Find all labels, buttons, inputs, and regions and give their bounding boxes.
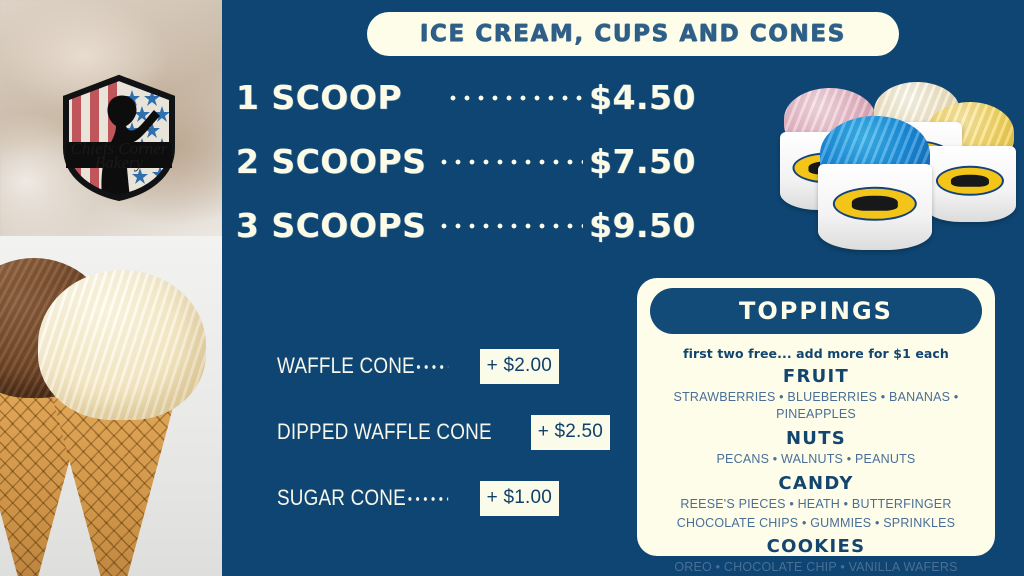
menu-title-banner: ICE CREAM, CUPS AND CONES xyxy=(367,12,899,56)
page-title: ICE CREAM, CUPS AND CONES xyxy=(420,21,846,47)
topping-items-candy-line1: REESE'S PIECES • HEATH • BUTTERFINGER xyxy=(649,496,983,513)
dot-leader xyxy=(437,158,584,166)
topping-items-candy-line2: CHOCOLATE CHIPS • GUMMIES • SPRINKLES xyxy=(649,515,983,532)
toppings-panel: TOPPINGS first two free... add more for … xyxy=(637,278,995,556)
cone-label-wrap: SUGAR CONE xyxy=(277,485,448,511)
blue-bell-logo-icon xyxy=(833,186,917,220)
toppings-header-bar: TOPPINGS xyxy=(650,288,982,334)
scoop-label: 2 SCOOPS xyxy=(236,142,427,181)
topping-category-fruit: FRUIT xyxy=(649,366,983,387)
cone-label: SUGAR CONE xyxy=(277,485,406,511)
ice-cream-cup xyxy=(924,146,1016,222)
waffle-cones-photo xyxy=(0,236,222,576)
topping-items-nuts: PECANS • WALNUTS • PEANUTS xyxy=(649,451,983,468)
vanilla-scoop xyxy=(38,270,206,420)
toppings-subtitle: first two free... add more for $1 each xyxy=(649,346,983,361)
cone-price-chip: + $1.00 xyxy=(480,481,559,516)
cone-price-chip: + $2.50 xyxy=(531,415,610,450)
dot-leader xyxy=(437,222,584,230)
topping-items-cookies: OREO • CHOCOLATE CHIP • VANILLA WAFERS xyxy=(649,559,983,576)
chiefs-corner-bakery-logo: Chiefs Corner Bakery xyxy=(44,56,194,206)
scoop-row: 2 SCOOPS $7.50 xyxy=(236,142,696,206)
ice-cream-cups-photo xyxy=(778,80,1014,250)
topping-category-nuts: NUTS xyxy=(649,428,983,449)
scoop-label: 1 SCOOP xyxy=(236,78,402,117)
scoop-price-list: 1 SCOOP $4.50 2 SCOOPS $7.50 3 SCOOPS $9… xyxy=(236,78,696,270)
dot-leader xyxy=(446,94,583,102)
scoop-price: $4.50 xyxy=(589,78,696,117)
menu-board: Chiefs Corner Bakery ICE CREAM, CUPS AND… xyxy=(0,0,1024,576)
topping-category-cookies: COOKIES xyxy=(649,536,983,557)
scoop-label: 3 SCOOPS xyxy=(236,206,427,245)
cone-label-wrap: DIPPED WAFFLE CONE xyxy=(277,419,492,445)
cone-row: SUGAR CONE + $1.00 xyxy=(277,465,559,531)
cone-row: WAFFLE CONE + $2.00 xyxy=(277,333,559,399)
cone-addon-list: WAFFLE CONE + $2.00 DIPPED WAFFLE CONE +… xyxy=(277,333,559,531)
topping-category-candy: CANDY xyxy=(649,473,983,494)
blue-bell-logo-icon xyxy=(936,166,1004,196)
logo-line2: Bakery xyxy=(95,153,144,172)
scoop-row: 1 SCOOP $4.50 xyxy=(236,78,696,142)
cone-label-wrap: WAFFLE CONE xyxy=(277,353,448,379)
cone-row: DIPPED WAFFLE CONE + $2.50 xyxy=(277,399,559,465)
cone-label: WAFFLE CONE xyxy=(277,353,415,379)
scoop-price: $9.50 xyxy=(589,206,696,245)
ice-cream-cup-front xyxy=(818,164,932,250)
cone-price-chip: + $2.00 xyxy=(480,349,559,384)
toppings-heading: TOPPINGS xyxy=(739,297,893,325)
dot-leader xyxy=(415,364,448,370)
topping-items-fruit: STRAWBERRIES • BLUEBERRIES • BANANAS • P… xyxy=(649,389,983,423)
scoop-price: $7.50 xyxy=(589,142,696,181)
cone-label: DIPPED WAFFLE CONE xyxy=(277,419,492,445)
dot-leader xyxy=(406,496,448,502)
scoop-row: 3 SCOOPS $9.50 xyxy=(236,206,696,270)
